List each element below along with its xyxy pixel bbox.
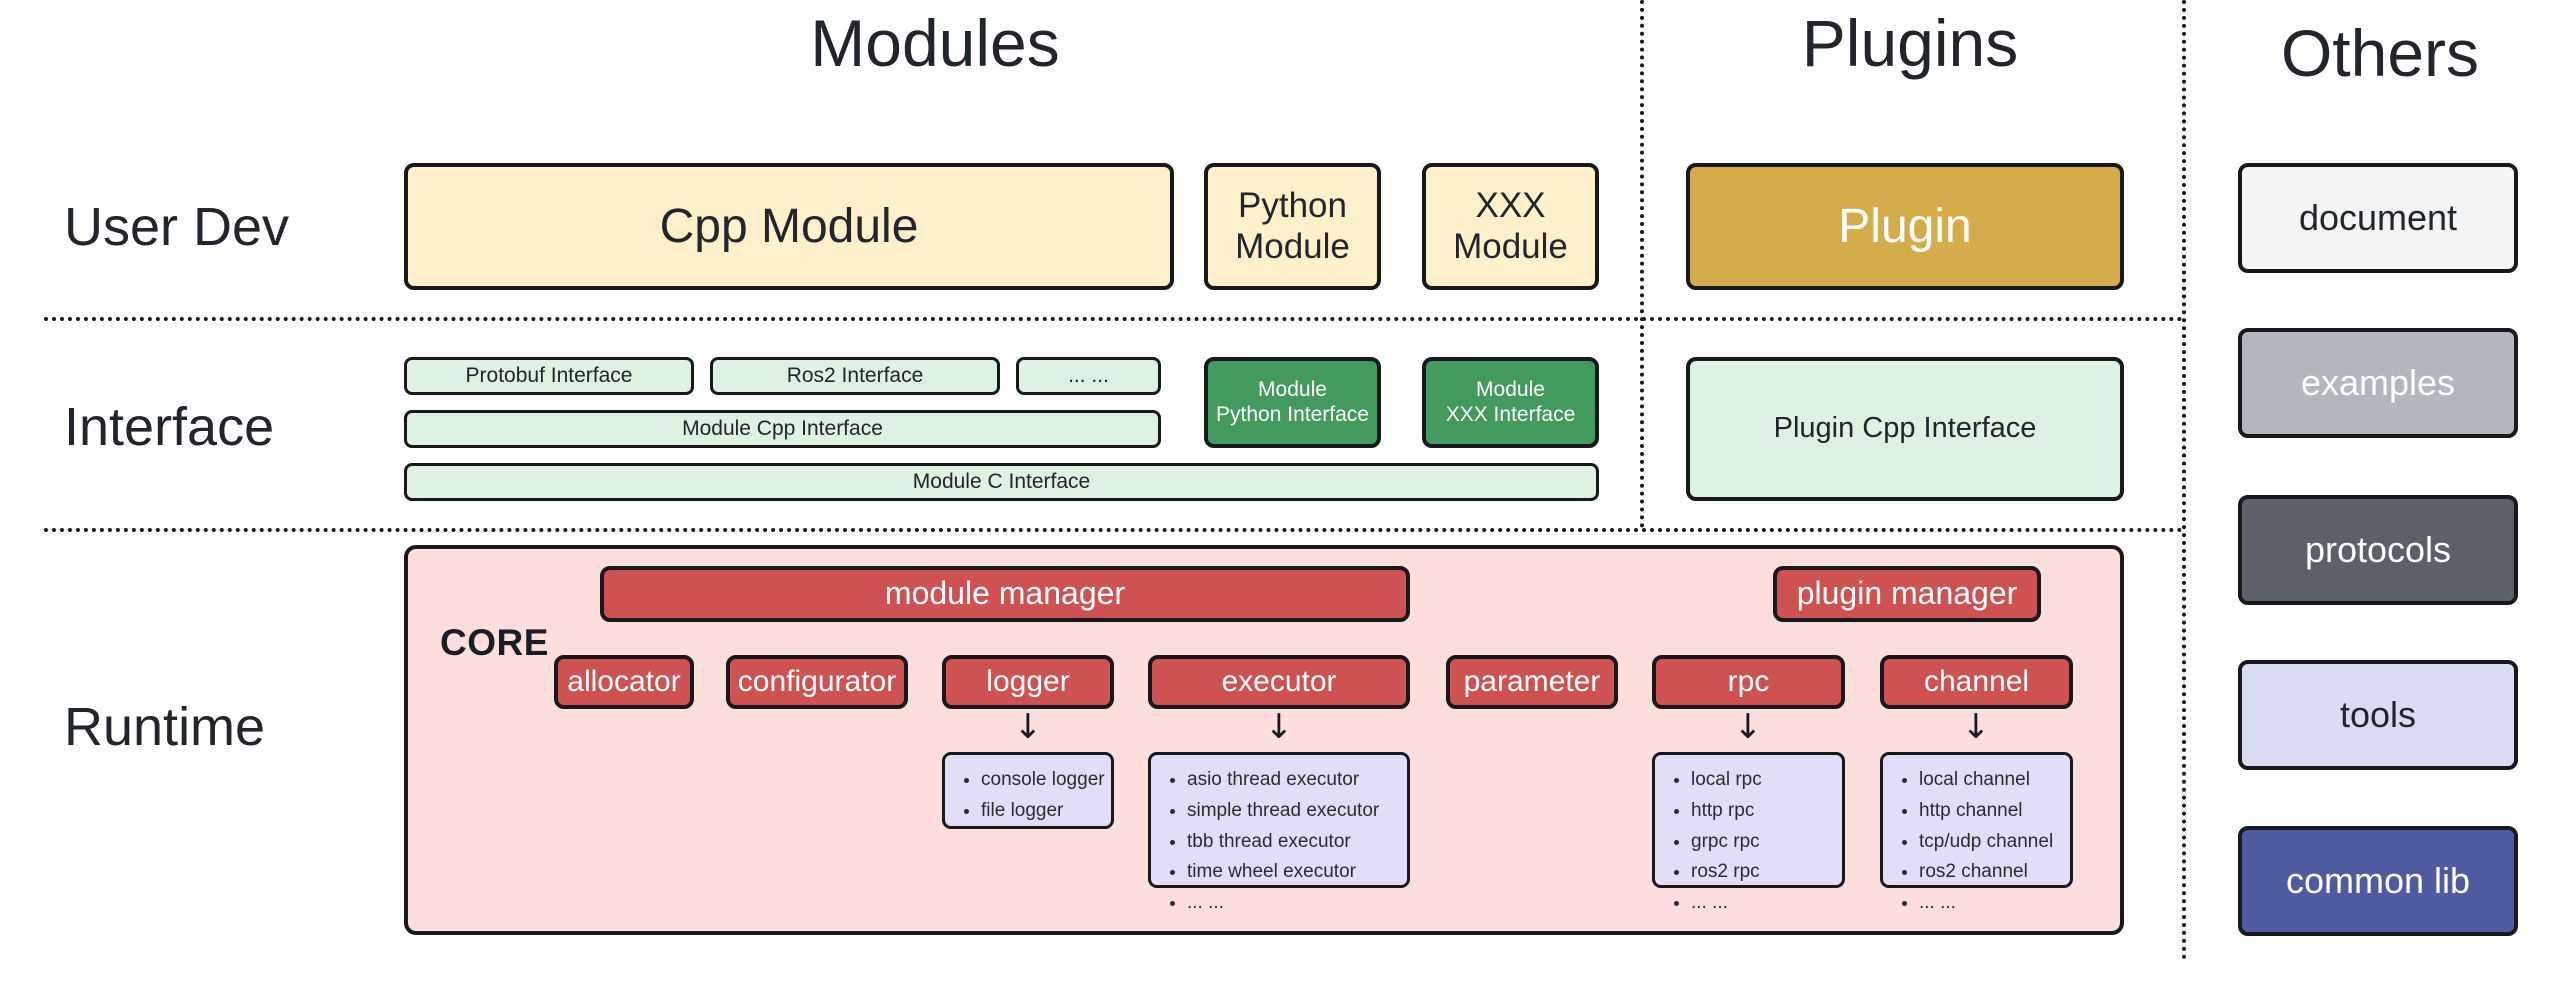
arrow-down-icon-channel: ↓	[1961, 710, 1991, 744]
list-item: time wheel executor	[1187, 857, 1399, 888]
arrow-down-icon-logger: ↓	[1013, 710, 1043, 744]
others-item-common-lib[interactable]: common lib	[2238, 826, 2518, 936]
list-item: file logger	[981, 796, 1103, 827]
cpp-module-box[interactable]: Cpp Module	[404, 163, 1174, 290]
executor-items: asio thread executorsimple thread execut…	[1165, 765, 1399, 919]
others-item-tools[interactable]: tools	[2238, 660, 2518, 770]
arrow-down-icon-rpc: ↓	[1733, 710, 1763, 744]
python-module-box[interactable]: Python Module	[1204, 163, 1381, 290]
allocator-box[interactable]: allocator	[554, 655, 694, 709]
channel-items: local channelhttp channeltcp/udp channel…	[1897, 765, 2062, 919]
others-item-document[interactable]: document	[2238, 163, 2518, 273]
list-item: local channel	[1919, 765, 2062, 796]
module-c-interface-box[interactable]: Module C Interface	[404, 463, 1599, 501]
list-item: grpc rpc	[1691, 827, 1834, 858]
channel-detail-list[interactable]: local channelhttp channeltcp/udp channel…	[1880, 752, 2073, 888]
separator-interface-runtime	[44, 528, 2184, 532]
list-item: simple thread executor	[1187, 796, 1399, 827]
column-title-modules: Modules	[700, 10, 1170, 76]
row-label-interface: Interface	[64, 400, 274, 454]
others-item-examples[interactable]: examples	[2238, 328, 2518, 438]
executor-box[interactable]: executor	[1148, 655, 1410, 709]
list-item: console logger	[981, 765, 1103, 796]
separator-user-dev-interface	[44, 317, 2184, 321]
logger-detail-list[interactable]: console loggerfile logger	[942, 752, 1114, 829]
row-label-runtime: Runtime	[64, 700, 265, 754]
rpc-box[interactable]: rpc	[1652, 655, 1845, 709]
list-item: ros2 channel	[1919, 857, 2062, 888]
list-item: http channel	[1919, 796, 2062, 827]
plugin-box[interactable]: Plugin	[1686, 163, 2124, 290]
list-item: ... ...	[1691, 888, 1834, 919]
ros2-interface-box[interactable]: Ros2 Interface	[710, 357, 1000, 395]
plugin-cpp-interface-box[interactable]: Plugin Cpp Interface	[1686, 357, 2124, 501]
protobuf-interface-box[interactable]: Protobuf Interface	[404, 357, 694, 395]
list-item: http rpc	[1691, 796, 1834, 827]
rpc-items: local rpchttp rpcgrpc rpcros2 rpc... ...	[1669, 765, 1834, 919]
list-item: tbb thread executor	[1187, 827, 1399, 858]
module-python-interface-box[interactable]: Module Python Interface	[1204, 357, 1381, 448]
list-item: ... ...	[1187, 888, 1399, 919]
separator-plugins-others	[2182, 0, 2186, 960]
list-item: ... ...	[1919, 888, 2062, 919]
row-label-user-dev: User Dev	[64, 200, 289, 254]
executor-detail-list[interactable]: asio thread executorsimple thread execut…	[1148, 752, 1410, 888]
parameter-box[interactable]: parameter	[1446, 655, 1618, 709]
more-interface-box[interactable]: ... ...	[1016, 357, 1161, 395]
list-item: tcp/udp channel	[1919, 827, 2062, 858]
others-item-protocols[interactable]: protocols	[2238, 495, 2518, 605]
architecture-diagram: Modules Plugins Others User Dev Interfac…	[0, 0, 2560, 984]
list-item: local rpc	[1691, 765, 1834, 796]
core-label: CORE	[440, 622, 549, 664]
module-manager-box[interactable]: module manager	[600, 566, 1410, 622]
column-title-others: Others	[2200, 20, 2560, 86]
arrow-down-icon-executor: ↓	[1264, 710, 1294, 744]
xxx-module-box[interactable]: XXX Module	[1422, 163, 1599, 290]
separator-modules-plugins	[1640, 0, 1644, 528]
module-xxx-interface-box[interactable]: Module XXX Interface	[1422, 357, 1599, 448]
column-title-plugins: Plugins	[1700, 10, 2120, 76]
logger-box[interactable]: logger	[942, 655, 1114, 709]
list-item: ros2 rpc	[1691, 857, 1834, 888]
channel-box[interactable]: channel	[1880, 655, 2073, 709]
rpc-detail-list[interactable]: local rpchttp rpcgrpc rpcros2 rpc... ...	[1652, 752, 1845, 888]
list-item: asio thread executor	[1187, 765, 1399, 796]
logger-items: console loggerfile logger	[959, 765, 1103, 827]
plugin-manager-box[interactable]: plugin manager	[1773, 566, 2041, 622]
module-cpp-interface-box[interactable]: Module Cpp Interface	[404, 410, 1161, 448]
configurator-box[interactable]: configurator	[726, 655, 908, 709]
